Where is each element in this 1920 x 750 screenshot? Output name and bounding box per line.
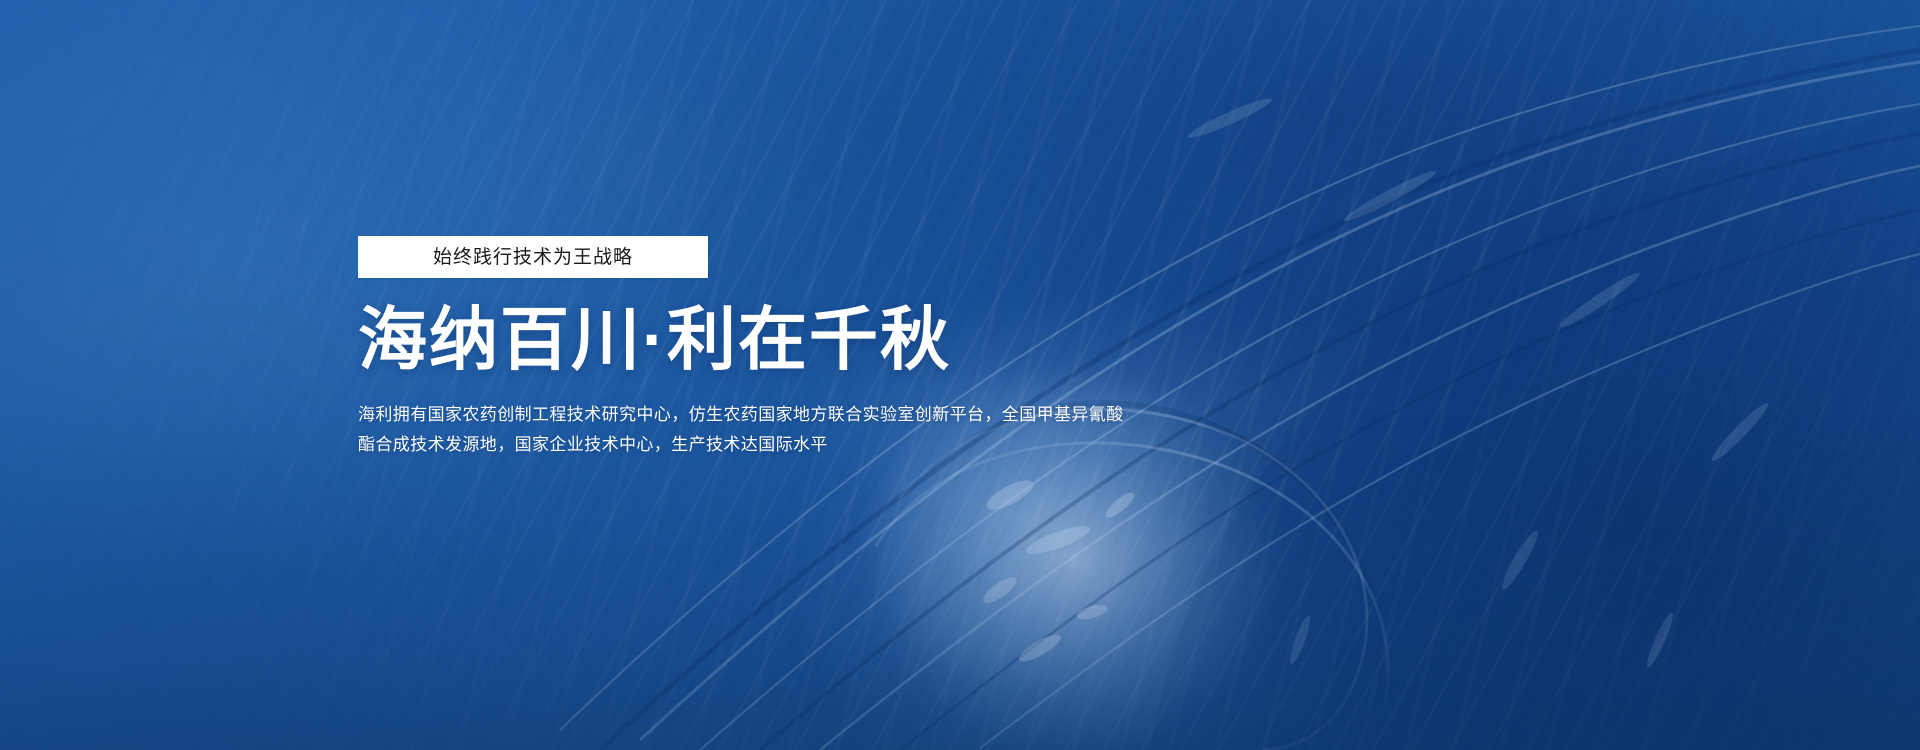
hero-headline: 海纳百川·利在千秋 <box>358 304 1458 376</box>
hero-description-line-2: 酯合成技术发源地，国家企业技术中心，生产技术达国际水平 <box>358 430 1158 460</box>
hero-content: 始终践行技术为王战略 海纳百川·利在千秋 海利拥有国家农药创制工程技术研究中心，… <box>358 236 1458 460</box>
hero-description-line-1: 海利拥有国家农药创制工程技术研究中心，仿生农药国家地方联合实验室创新平台，全国甲… <box>358 400 1158 430</box>
hero-description: 海利拥有国家农药创制工程技术研究中心，仿生农药国家地方联合实验室创新平台，全国甲… <box>358 400 1158 460</box>
hero-tagline-badge: 始终践行技术为王战略 <box>358 236 708 278</box>
hero-banner: 始终践行技术为王战略 海纳百川·利在千秋 海利拥有国家农药创制工程技术研究中心，… <box>0 0 1920 750</box>
